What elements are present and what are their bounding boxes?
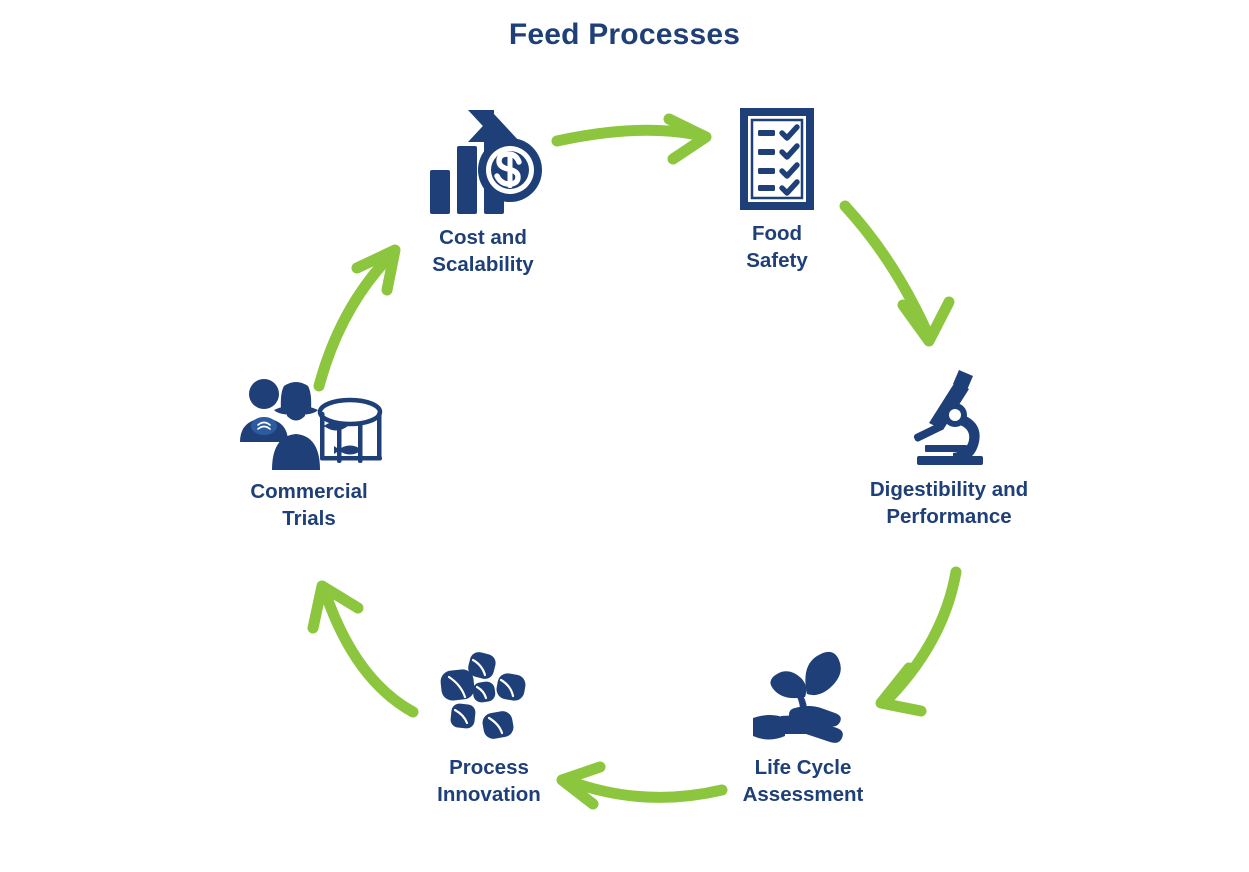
node-process-innovation[interactable]: Process Innovation <box>374 650 604 808</box>
node-life-cycle-assessment[interactable]: Life Cycle Assessment <box>688 650 918 808</box>
node-label: Food Safety <box>662 220 892 274</box>
growth-chart-dollar-icon <box>368 108 598 216</box>
node-label: Life Cycle Assessment <box>688 754 918 808</box>
node-digestibility-and-performance[interactable]: Digestibility and Performance <box>834 368 1064 530</box>
node-label: Digestibility and Performance <box>834 476 1064 530</box>
node-label: Process Innovation <box>374 754 604 808</box>
diagram-canvas: Feed Processes <box>0 0 1249 872</box>
microscope-icon <box>834 368 1064 468</box>
node-label: Commercial Trials <box>194 478 424 532</box>
page-title: Feed Processes <box>0 18 1249 52</box>
node-cost-and-scalability[interactable]: Cost and Scalability <box>368 108 598 278</box>
node-commercial-trials[interactable]: Commercial Trials <box>194 378 424 532</box>
node-food-safety[interactable]: Food Safety <box>662 108 892 274</box>
feed-pellets-icon <box>374 650 604 746</box>
clipboard-checklist-icon <box>662 108 892 212</box>
node-label: Cost and Scalability <box>368 224 598 278</box>
people-fish-pen-icon <box>194 378 424 470</box>
hand-sprout-icon <box>688 650 918 746</box>
